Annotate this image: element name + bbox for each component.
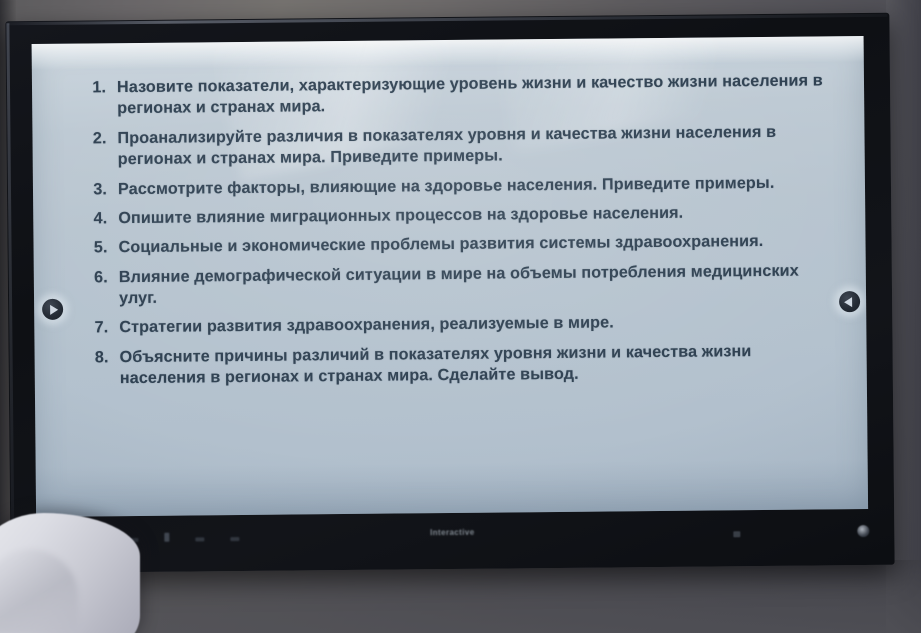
slide-content: Назовите показатели, характеризующие уро…	[32, 36, 869, 517]
foreground-fabric	[0, 513, 140, 633]
list-item: Социальные и экономические проблемы разв…	[71, 231, 827, 260]
bezel-button[interactable]	[164, 533, 169, 542]
bezel-highlight-top	[7, 14, 887, 25]
question-list: Назовите показатели, характеризующие уро…	[70, 70, 829, 390]
bezel-button[interactable]	[230, 537, 239, 541]
interactive-display: Назовите показатели, характеризующие уро…	[5, 13, 894, 573]
previous-slide-button[interactable]	[839, 291, 860, 312]
list-item: Стратегии развития здравоохранения, реал…	[72, 311, 828, 340]
screen-shadow-bottom	[36, 459, 868, 517]
list-item: Опишите влияние миграционных процессов н…	[71, 201, 827, 230]
display-screen[interactable]: Назовите показатели, характеризующие уро…	[32, 36, 869, 517]
next-slide-button[interactable]	[42, 299, 63, 320]
fabric-fold	[0, 549, 78, 633]
chevron-right-icon	[50, 304, 58, 314]
light-sensor-icon	[733, 531, 740, 537]
list-item: Рассмотрите факторы, влияющие на здоровь…	[71, 172, 827, 201]
power-indicator-icon	[857, 525, 869, 537]
list-item: Объясните причины различий в показателях…	[73, 340, 829, 390]
list-item: Проанализируйте различия в показателях у…	[70, 121, 826, 171]
list-item: Назовите показатели, характеризующие уро…	[70, 70, 826, 120]
list-item: Влияние демографической ситуации в мире …	[72, 260, 828, 310]
display-bottom-bezel: Interactive	[36, 509, 868, 569]
photo-scene: Назовите показатели, характеризующие уро…	[0, 0, 921, 633]
bezel-button[interactable]	[195, 537, 204, 541]
brand-logo: Interactive	[430, 528, 475, 537]
chevron-left-icon	[844, 297, 852, 307]
